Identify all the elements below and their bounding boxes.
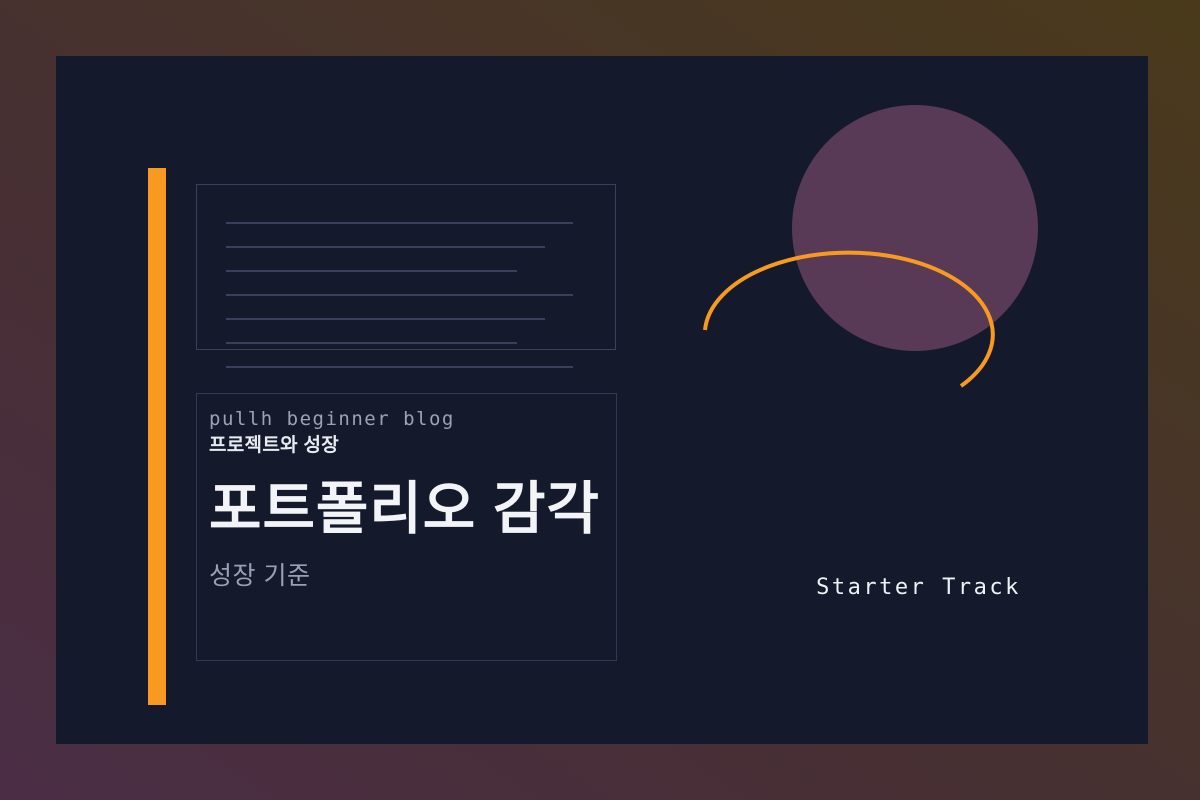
placeholder-lines-block xyxy=(196,184,616,350)
eyebrow-text: pullh beginner blog xyxy=(209,408,604,432)
placeholder-line xyxy=(226,222,573,224)
kicker-text: 프로젝트와 성장 xyxy=(209,432,604,461)
placeholder-line xyxy=(226,318,545,320)
placeholder-line xyxy=(226,246,545,248)
placeholder-line xyxy=(226,366,573,368)
slide-panel: pullh beginner blog 프로젝트와 성장 포트폴리오 감각 성장… xyxy=(56,56,1148,744)
orange-arc-decor xyxy=(705,253,993,386)
content-card: pullh beginner blog 프로젝트와 성장 포트폴리오 감각 성장… xyxy=(196,393,617,661)
subtitle-text: 성장 기준 xyxy=(209,560,604,593)
track-label: Starter Track xyxy=(716,575,1121,600)
slide-canvas: pullh beginner blog 프로젝트와 성장 포트폴리오 감각 성장… xyxy=(0,0,1200,800)
content-card-body: pullh beginner blog 프로젝트와 성장 포트폴리오 감각 성장… xyxy=(209,408,604,592)
placeholder-line xyxy=(226,342,517,344)
left-accent-bar xyxy=(148,168,166,705)
purple-circle-decor xyxy=(792,105,1038,351)
placeholder-lines-frame xyxy=(196,184,616,350)
page-title: 포트폴리오 감각 xyxy=(209,474,604,545)
placeholder-line xyxy=(226,294,573,296)
placeholder-line xyxy=(226,270,517,272)
